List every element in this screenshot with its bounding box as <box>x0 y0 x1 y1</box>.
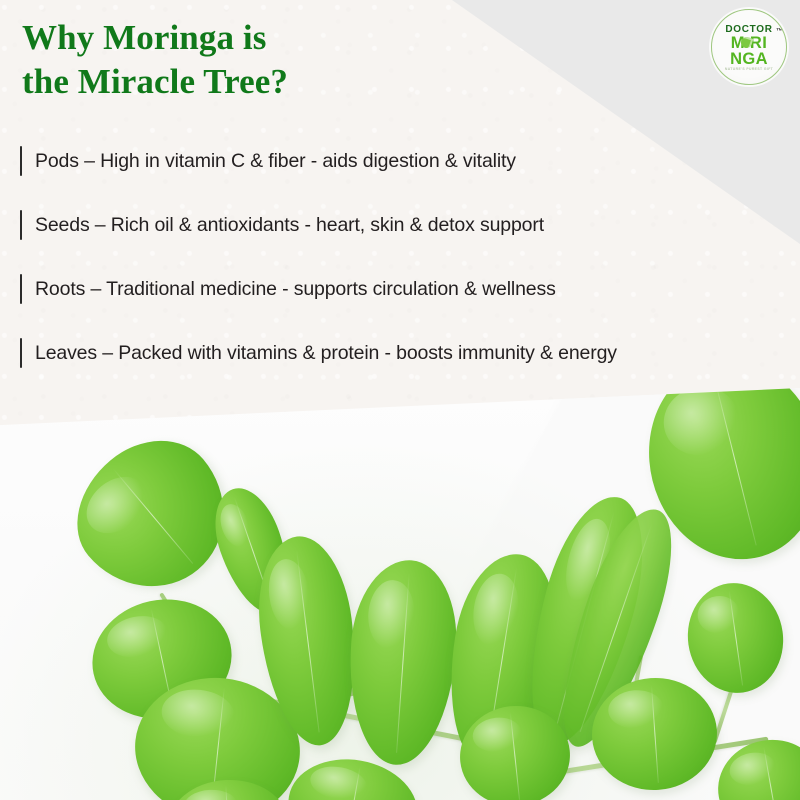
list-item: Roots – Traditional medicine - supports … <box>20 266 760 312</box>
list-item: Leaves – Packed with vitamins & protein … <box>20 330 760 376</box>
list-item-label: Roots – Traditional medicine - supports … <box>35 278 556 301</box>
logo-brand-line-2: NGA <box>730 51 768 67</box>
logo-tagline: NATURE'S PUREST GIFT <box>725 68 773 71</box>
moringa-leaves-photo <box>0 388 800 800</box>
page-title: Why Moringa is the Miracle Tree? <box>22 16 542 104</box>
list-item-label: Seeds – Rich oil & antioxidants - heart,… <box>35 214 544 237</box>
bullet-bar-icon <box>20 274 22 304</box>
list-item: Seeds – Rich oil & antioxidants - heart,… <box>20 202 760 248</box>
brand-logo[interactable]: DOCTOR M RI NGA NATURE'S PUREST GIFT ™ <box>711 9 787 85</box>
list-item-label: Leaves – Packed with vitamins & protein … <box>35 342 617 365</box>
bullet-bar-icon <box>20 146 22 176</box>
poster-canvas: Why Moringa is the Miracle Tree? DOCTOR … <box>0 0 800 800</box>
list-item: Pods – High in vitamin C & fiber - aids … <box>20 138 760 184</box>
trademark-icon: ™ <box>776 28 783 35</box>
benefits-list: Pods – High in vitamin C & fiber - aids … <box>20 138 760 394</box>
bullet-bar-icon <box>20 210 22 240</box>
logo-wordmark: M RI NGA <box>730 35 768 67</box>
list-item-label: Pods – High in vitamin C & fiber - aids … <box>35 150 516 173</box>
page-title-line-2: the Miracle Tree? <box>22 60 542 104</box>
bullet-bar-icon <box>20 338 22 368</box>
page-title-line-1: Why Moringa is <box>22 16 542 60</box>
